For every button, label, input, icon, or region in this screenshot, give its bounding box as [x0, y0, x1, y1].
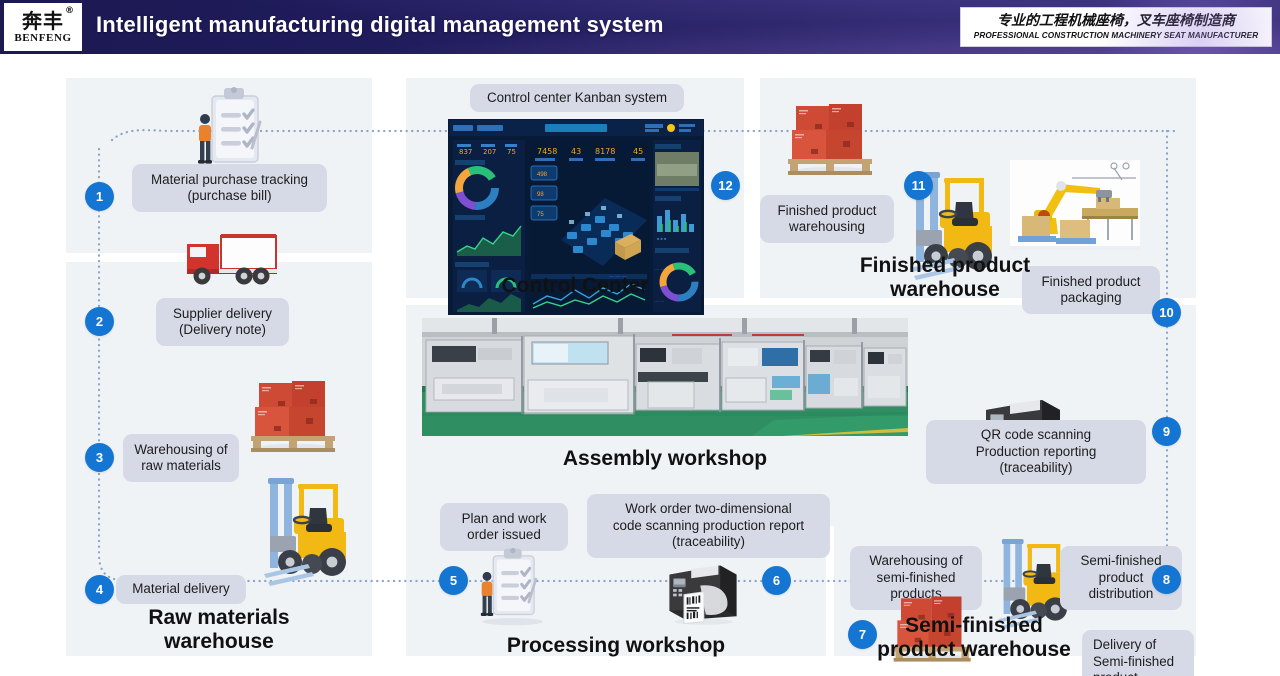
step-number: 2	[96, 314, 103, 329]
svg-text:— —: — —	[655, 266, 664, 271]
step-number: 3	[96, 450, 103, 465]
label-line-3: distribution	[1089, 586, 1154, 602]
page-title: Intelligent manufacturing digital manage…	[96, 12, 664, 38]
step-node-6[interactable]: 6	[762, 566, 791, 595]
label-line-3: (traceability)	[672, 534, 745, 550]
label-line-2: Production reporting	[976, 444, 1097, 460]
zone-title-text: Processing workshop	[507, 634, 725, 657]
company-logo: 奔丰 ® BENFENG	[4, 3, 82, 51]
label-line-1: Material purchase tracking	[151, 172, 308, 188]
slogan-english: PROFESSIONAL CONSTRUCTION MACHINERY SEAT…	[974, 31, 1258, 40]
svg-text:75: 75	[507, 148, 516, 156]
label-line-1: Work order two-dimensional	[625, 501, 791, 517]
svg-text:7458: 7458	[537, 147, 557, 156]
step-number: 10	[1159, 305, 1173, 320]
zone-title-semi-finished: Semi-finished product warehouse	[856, 614, 1092, 661]
step-number: 9	[1163, 424, 1170, 439]
zone-title-line-1: Finished product	[845, 254, 1045, 278]
step-number: 5	[450, 573, 457, 588]
label-finished-warehousing: Finished product warehousing	[760, 195, 894, 243]
label-line-1: Warehousing of	[869, 553, 962, 569]
zone-title-line-2: warehouse	[845, 278, 1045, 302]
svg-text:— —: — —	[655, 298, 664, 303]
forklift-icon	[254, 478, 359, 598]
svg-text:75: 75	[537, 212, 544, 218]
label-line-2: (purchase bill)	[187, 188, 271, 204]
zone-title-line-2: product warehouse	[856, 638, 1092, 662]
zone-title-assembly: Assembly workshop	[422, 447, 908, 471]
assembly-workshop-photo	[422, 318, 908, 436]
zone-title-raw-materials: Raw materials warehouse	[66, 606, 372, 653]
step-number: 11	[912, 178, 926, 193]
step-node-12[interactable]: 12	[711, 171, 740, 200]
label-line-1: Plan and work	[462, 511, 547, 527]
step-node-2[interactable]: 2	[85, 307, 114, 336]
packaging-robot-icon	[1010, 160, 1140, 250]
clipboard-checklist-icon	[186, 86, 278, 176]
step-node-9[interactable]: 9	[1152, 417, 1181, 446]
label-line-2: (Delivery note)	[179, 322, 266, 338]
clipboard-checklist-icon-plan	[470, 547, 552, 627]
zone-title-finished-warehouse: Finished product warehouse	[845, 254, 1045, 301]
zone-title-processing: Processing workshop	[406, 634, 826, 658]
svg-text:8178: 8178	[595, 147, 615, 156]
label-warehousing-raw: Warehousing of raw materials	[123, 434, 239, 482]
step-number: 8	[1163, 572, 1170, 587]
zone-title-line-1: Semi-finished	[856, 614, 1092, 638]
label-line-2: packaging	[1060, 290, 1121, 306]
label-material-purchase: Material purchase tracking (purchase bil…	[132, 164, 327, 212]
label-work-order-scan: Work order two-dimensional code scanning…	[587, 494, 830, 558]
label-kanban-system: Control center Kanban system	[470, 84, 684, 112]
zone-title-control-center: Control Center	[406, 274, 744, 298]
label-line-1: Supplier delivery	[173, 306, 272, 322]
label-material-delivery: Material delivery	[116, 575, 246, 604]
step-node-5[interactable]: 5	[439, 566, 468, 595]
step-node-7[interactable]: 7	[848, 620, 877, 649]
svg-text:207: 207	[483, 148, 496, 156]
step-node-8[interactable]: 8	[1152, 565, 1181, 594]
label-line-3: product	[1093, 670, 1138, 676]
slogan-chinese: 专业的工程机械座椅，叉车座椅制造商	[997, 14, 1235, 29]
label-line-1: Finished product	[1042, 274, 1141, 290]
logo-characters: 奔丰	[22, 9, 64, 33]
label-line-2: code scanning production report	[613, 518, 804, 534]
app-header: 奔丰 ® BENFENG Intelligent manufacturing d…	[0, 0, 1280, 54]
label-line-3: (traceability)	[1000, 460, 1073, 476]
step-number: 6	[773, 573, 780, 588]
label-line-2: raw materials	[141, 458, 221, 474]
step-node-1[interactable]: 1	[85, 182, 114, 211]
step-node-3[interactable]: 3	[85, 443, 114, 472]
step-node-11[interactable]: 11	[904, 171, 933, 200]
logo-wordmark: BENFENG	[14, 33, 71, 44]
label-line-1: QR code scanning	[981, 427, 1091, 443]
svg-text:43: 43	[571, 147, 581, 156]
step-node-4[interactable]: 4	[85, 575, 114, 604]
label-line-1: Warehousing of	[134, 442, 227, 458]
label-line-1: Finished product	[778, 203, 877, 219]
label-semi-delivery: Delivery of Semi-finished product	[1082, 630, 1194, 676]
label-printer-icon-workorder	[664, 554, 742, 626]
label-qr-scanning: QR code scanning Production reporting (t…	[926, 420, 1146, 484]
step-number: 7	[859, 627, 866, 642]
svg-text:■ ■ ■: ■ ■ ■	[657, 236, 667, 241]
label-line-2: semi-finished	[877, 570, 956, 586]
label-line-2: product	[1099, 570, 1144, 586]
label-plan-work-order: Plan and work order issued	[440, 503, 568, 551]
slogan-banner: 专业的工程机械座椅，叉车座椅制造商 PROFESSIONAL CONSTRUCT…	[960, 7, 1272, 47]
registered-trademark-icon: ®	[65, 7, 75, 16]
label-line-1: Material delivery	[132, 581, 230, 597]
label-line-1: Delivery of	[1093, 637, 1156, 653]
label-line-1: Control center Kanban system	[487, 90, 667, 106]
svg-text:498: 498	[537, 172, 548, 178]
svg-text:45: 45	[633, 147, 643, 156]
label-line-2: warehousing	[789, 219, 865, 235]
delivery-truck-icon	[181, 226, 281, 288]
carton-pallet-icon-finished	[784, 92, 880, 176]
step-number: 4	[96, 582, 103, 597]
step-number: 12	[718, 178, 732, 193]
label-supplier-delivery: Supplier delivery (Delivery note)	[156, 298, 289, 346]
label-line-2: Semi-finished	[1093, 654, 1174, 670]
label-line-1: Semi-finished	[1080, 553, 1161, 569]
step-node-10[interactable]: 10	[1152, 298, 1181, 327]
svg-text:98: 98	[537, 192, 544, 198]
step-number: 1	[96, 189, 103, 204]
svg-text:837: 837	[459, 148, 472, 156]
zone-title-text: Control Center	[502, 274, 649, 297]
zone-title-text: Assembly workshop	[563, 447, 767, 470]
label-line-2: order issued	[467, 527, 541, 543]
zone-title-line-2: warehouse	[66, 630, 372, 654]
zone-title-line-1: Raw materials	[66, 606, 372, 630]
process-flow-diagram: 1 Material purchase tracking (purchase b…	[0, 54, 1280, 676]
logo-mark-glyph: 奔丰 ®	[22, 11, 64, 31]
carton-pallet-icon	[247, 369, 343, 453]
